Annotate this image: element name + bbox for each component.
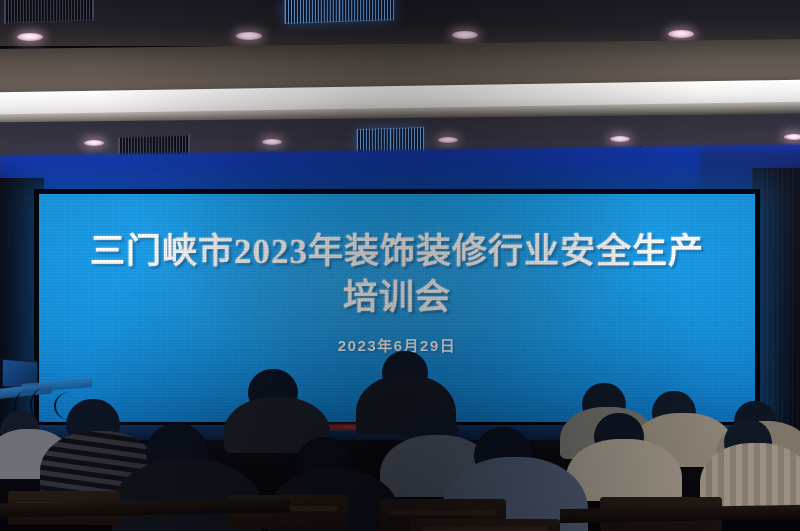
ceiling-downlight-1 (17, 33, 43, 41)
ceiling-downlight-6 (262, 139, 282, 145)
ceiling-downlight-3 (452, 31, 478, 39)
chair-slat (422, 526, 548, 531)
chair-slat (390, 510, 496, 515)
ceiling-downlight-2 (236, 32, 262, 40)
slide-title-line-1: 三门峡市2023年装饰装修行业安全生产 (90, 230, 704, 273)
ceiling-downlight-7 (438, 137, 458, 143)
ceiling-downlight-9 (784, 134, 800, 140)
ceiling-downlight-4 (668, 30, 694, 38)
conference-hall-photo: 三门峡市2023年装饰装修行业安全生产 培训会 2023年6月29日 (0, 0, 800, 531)
ceiling-downlight-8 (610, 136, 630, 142)
hvac-vent-upper-center (284, 0, 394, 24)
ceiling-downlight-5 (84, 140, 104, 146)
audience-seating-area (0, 330, 800, 531)
hvac-vent-upper-left (4, 0, 94, 24)
table-edge-right (560, 505, 800, 523)
ceiling-upper-slab (0, 0, 800, 46)
slide-title-line-2: 培训会 (343, 276, 451, 319)
